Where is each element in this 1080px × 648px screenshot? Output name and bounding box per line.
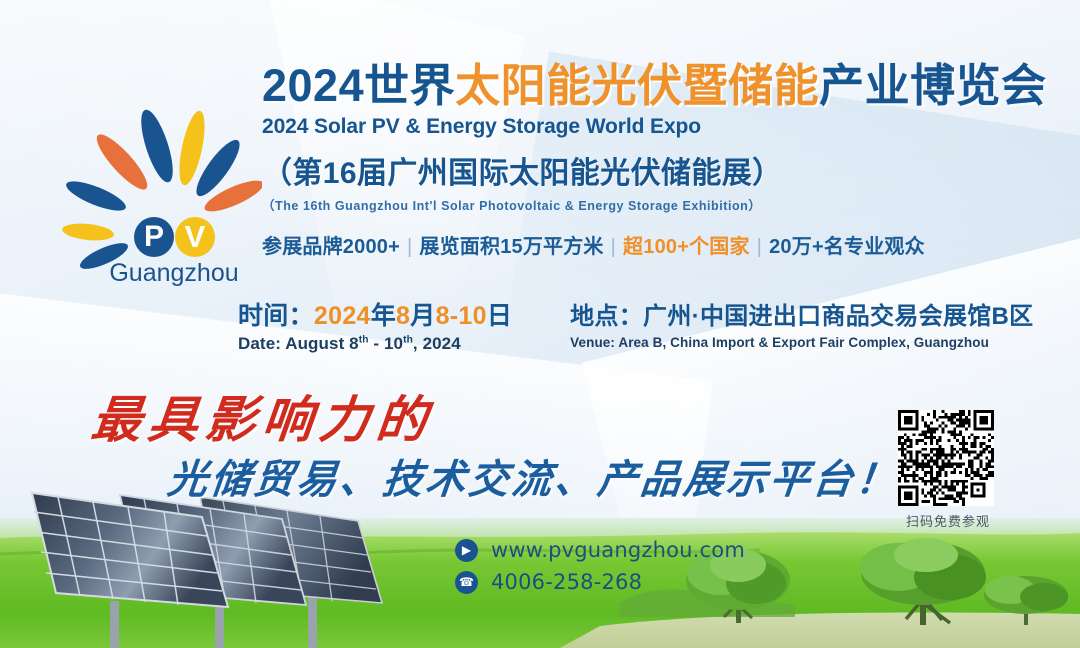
stat-visitors: 20万+名专业观众 [769,236,925,258]
date-venue-bar: 时间：2024年8月8-10日 Date: August 8th - 10th,… [238,296,1048,354]
qr-code-icon[interactable] [898,410,994,506]
phone-circle-icon: ☎ [455,571,478,594]
date-month: 8 [396,302,410,330]
title-zh-part-1: 2024世界 [262,60,455,111]
date-day-unit: 日 [487,302,512,330]
venue-zh: 地点：广州·中国进出口商品交易会展馆B区 [570,296,1033,331]
stat-countries: 超100+个国家 [623,236,750,258]
date-en-prefix: Date: August 8 [238,334,359,353]
headline-block: 2024世界太阳能光伏暨储能产业博览会 2024 Solar PV & Ener… [262,62,1062,259]
slogan-line-2: 光储贸易、技术交流、产品展示平台！ [165,447,902,505]
pv-guangzhou-logo: P V Guangzhou [52,104,262,294]
stat-brands: 参展品牌2000+ [262,236,400,258]
date-en-sup-2: th [403,334,413,345]
date-year: 2024 [314,302,371,330]
subtitle-zh: （第16届广州国际太阳能光伏储能展） [262,148,1062,192]
date-label-zh: 时间： [238,302,314,330]
contact-block: ▶ www.pvguangzhou.com ☎ 4006-258-268 [455,534,745,598]
title-zh-part-3: 产业博览会 [819,60,1047,111]
venue-block: 地点：广州·中国进出口商品交易会展馆B区 Venue: Area B, Chin… [570,296,1033,350]
phone-number[interactable]: 4006-258-268 [491,570,642,594]
venue-value-zh: 广州·中国进出口商品交易会展馆B区 [643,303,1033,330]
subtitle-en: （The 16th Guangzhou Int'l Solar Photovol… [262,195,1062,214]
date-en-suffix: , 2024 [413,334,461,353]
website-url[interactable]: www.pvguangzhou.com [491,538,745,562]
date-year-unit: 年 [371,302,396,330]
title-zh: 2024世界太阳能光伏暨储能产业博览会 [262,62,1062,110]
expo-poster: P V Guangzhou 2024世界太阳能光伏暨储能产业博览会 2024 S… [0,0,1080,648]
slogan-line-1: 最具影响力的 [88,380,438,452]
website-row[interactable]: ▶ www.pvguangzhou.com [455,534,745,566]
date-month-unit: 月 [410,302,435,330]
logo-wordmark: Guangzhou [109,259,238,287]
stats-row: 参展品牌2000+|展览面积15万平方米|超100+个国家|20万+名专业观众 [262,230,1062,259]
play-circle-icon: ▶ [455,539,478,562]
date-en-sup-1: th [359,334,369,345]
venue-en: Venue: Area B, China Import & Export Fai… [570,335,1033,350]
date-zh: 时间：2024年8月8-10日 [238,296,512,332]
date-block: 时间：2024年8月8-10日 Date: August 8th - 10th,… [238,296,512,354]
date-en-mid: - 10 [369,334,404,353]
qr-block: 扫码免费参观 [898,410,998,530]
stat-separator-1: | [400,236,419,258]
venue-label-zh: 地点： [570,303,643,330]
phone-row[interactable]: ☎ 4006-258-268 [455,566,745,598]
stat-separator-3: | [750,236,769,258]
date-days: 8-10 [436,302,487,330]
tree-right-large [860,538,986,625]
stat-separator-2: | [604,236,623,258]
stat-area: 展览面积15万平方米 [419,236,603,258]
sunburst-icon: P V Guangzhou [52,104,262,294]
date-en: Date: August 8th - 10th, 2024 [238,334,512,354]
logo-letter-v: V [185,219,206,254]
tree-far-right [984,576,1068,625]
logo-pv-mark: P V [134,217,215,257]
title-en: 2024 Solar PV & Energy Storage World Exp… [262,115,1062,139]
logo-letter-p: P [144,220,164,253]
qr-caption: 扫码免费参观 [898,511,998,530]
title-zh-part-2: 太阳能光伏暨储能 [455,60,819,111]
